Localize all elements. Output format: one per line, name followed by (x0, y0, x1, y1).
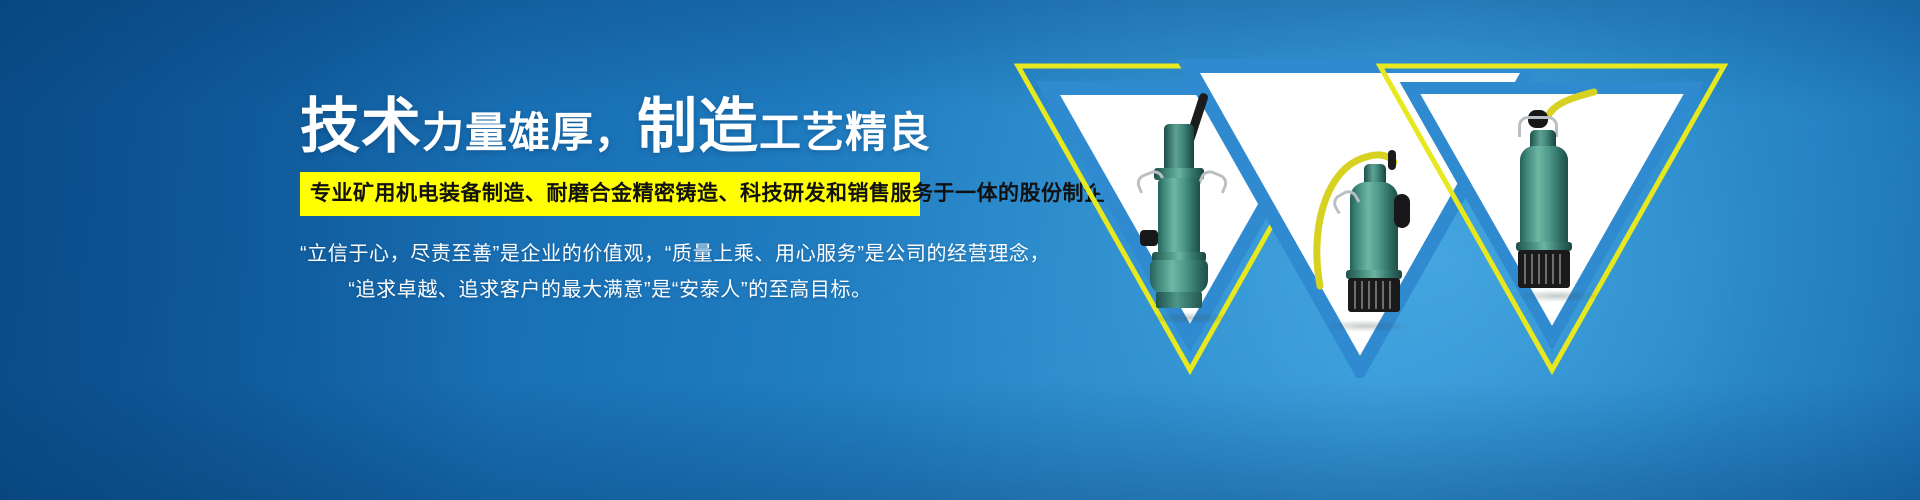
pump-shadow (1319, 320, 1413, 332)
headline-part-3: 制造 (637, 93, 759, 160)
pump-outlet-nozzle (1394, 194, 1410, 228)
pump-volute-casing (1150, 260, 1208, 294)
submersible-pump-medium (1306, 136, 1426, 326)
pump-outlet-nozzle (1140, 230, 1158, 246)
pump-shadow (1511, 290, 1605, 302)
submersible-pump-large (1130, 98, 1250, 318)
headline-part-2: 力量雄厚， (422, 109, 637, 156)
promo-banner: 技术力量雄厚，制造工艺精良 专业矿用机电装备制造、耐磨合金精密铸造、科技研发和销… (0, 0, 1920, 500)
pump-motor-top (1164, 124, 1194, 172)
banner-subtitle-bar: 专业矿用机电装备制造、耐磨合金精密铸造、科技研发和销售服务于一体的股份制企业 (300, 172, 920, 216)
pump-main-body (1158, 178, 1200, 256)
pump-strainer-grate (1518, 250, 1570, 288)
banner-headline: 技术力量雄厚，制造工艺精良 (300, 95, 920, 158)
banner-body-text: “立信于心，尽责至善”是企业的价值观，“质量上乘、用心服务”是公司的经营理念， … (300, 236, 920, 308)
product-graphic-group (1010, 58, 1890, 378)
pump-cable-stub (1388, 150, 1396, 170)
headline-part-4: 工艺精良 (759, 109, 931, 156)
pump-shadow (1143, 312, 1237, 324)
body-line-1: “立信于心，尽责至善”是企业的价值观，“质量上乘、用心服务”是公司的经营理念， (300, 236, 920, 272)
submersible-pump-small (1498, 88, 1618, 296)
pump-main-body (1520, 146, 1568, 246)
banner-text-block: 技术力量雄厚，制造工艺精良 专业矿用机电装备制造、耐磨合金精密铸造、科技研发和销… (300, 95, 920, 308)
pump-base-stand (1156, 292, 1202, 308)
pump-strainer-grate (1348, 278, 1400, 312)
body-line-2: “追求卓越、追求客户的最大满意”是“安泰人”的至高目标。 (300, 272, 920, 308)
headline-part-1: 技术 (300, 93, 422, 160)
pump-lifting-handle-right (1198, 167, 1230, 193)
